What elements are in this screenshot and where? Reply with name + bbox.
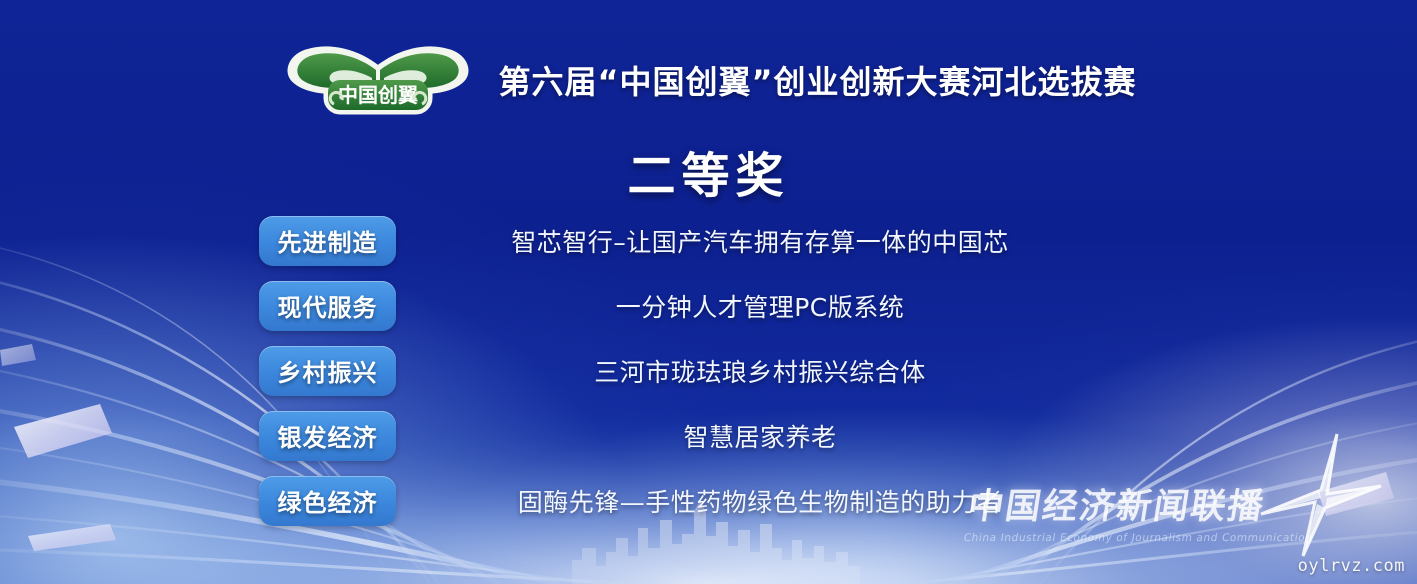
award-heading: 二等奖 bbox=[0, 136, 1417, 206]
award-row: 先进制造 智芯智行–让国产汽车拥有存算一体的中国芯 bbox=[0, 208, 1417, 273]
event-title: 第六届“中国创翼”创业创新大赛河北选拔赛 bbox=[498, 57, 1136, 103]
award-row: 绿色经济 固酶先锋—手性药物绿色生物制造的助力者 bbox=[0, 468, 1417, 533]
winged-emblem-icon: 中国创翼 bbox=[280, 34, 476, 126]
award-row: 现代服务 一分钟人才管理PC版系统 bbox=[0, 273, 1417, 338]
logo-text: 中国创翼 bbox=[338, 83, 418, 107]
four-point-star-icon bbox=[1241, 428, 1391, 560]
project-name: 智芯智行–让国产汽车拥有存算一体的中国芯 bbox=[430, 223, 1090, 259]
award-entries-list: 先进制造 智芯智行–让国产汽车拥有存算一体的中国芯 现代服务 一分钟人才管理PC… bbox=[0, 208, 1417, 533]
award-row: 银发经济 智慧居家养老 bbox=[0, 403, 1417, 468]
award-row: 乡村振兴 三河市珑珐琅乡村振兴综合体 bbox=[0, 338, 1417, 403]
category-tag-rural-revitalization[interactable]: 乡村振兴 bbox=[259, 346, 396, 396]
project-name: 固酶先锋—手性药物绿色生物制造的助力者 bbox=[430, 483, 1090, 519]
category-tag-advanced-manufacturing[interactable]: 先进制造 bbox=[259, 216, 396, 266]
award-banner: 中国创翼 第六届“中国创翼”创业创新大赛河北选拔赛 二等奖 先进制造 智芯智行–… bbox=[0, 0, 1417, 584]
site-url-watermark: oylrvz.com bbox=[1298, 556, 1405, 576]
project-name: 一分钟人才管理PC版系统 bbox=[430, 288, 1090, 324]
category-tag-modern-services[interactable]: 现代服务 bbox=[259, 281, 396, 331]
banner-header: 中国创翼 第六届“中国创翼”创业创新大赛河北选拔赛 bbox=[0, 34, 1417, 126]
category-tag-green-economy[interactable]: 绿色经济 bbox=[259, 476, 396, 526]
project-name: 智慧居家养老 bbox=[430, 418, 1090, 454]
category-tag-silver-economy[interactable]: 银发经济 bbox=[259, 411, 396, 461]
project-name: 三河市珑珐琅乡村振兴综合体 bbox=[430, 353, 1090, 389]
